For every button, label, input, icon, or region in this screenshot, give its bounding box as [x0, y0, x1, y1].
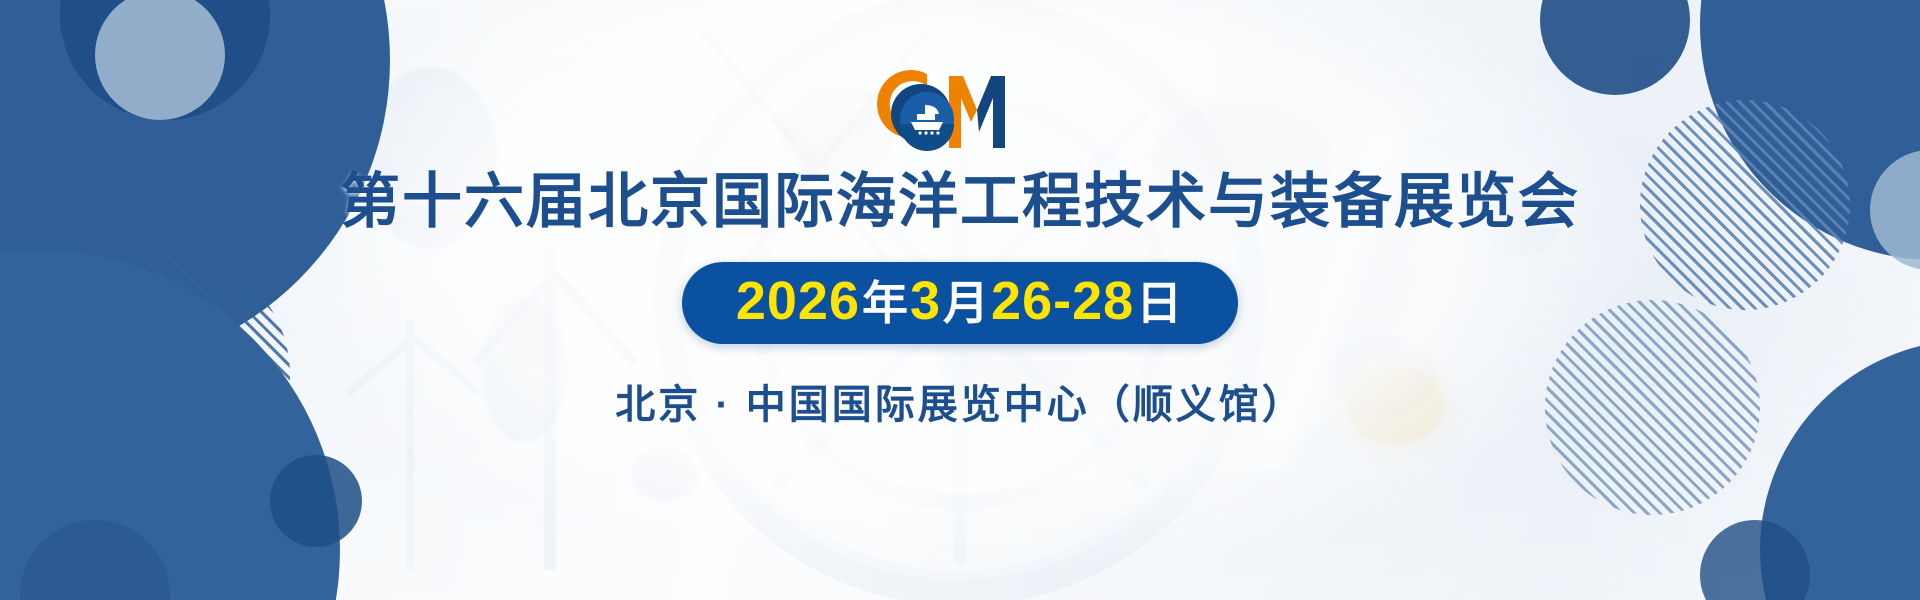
- date-day-unit: 日: [1134, 280, 1184, 326]
- date-month-unit: 月: [941, 280, 991, 326]
- event-banner: 第十六届北京国际海洋工程技术与装备展览会 2026 年 3 月 26-28 日 …: [0, 0, 1920, 600]
- logo-ship-deck: [917, 114, 935, 120]
- logo-letter-m-orange: [949, 76, 977, 148]
- date-month: 3: [910, 274, 941, 328]
- venue-text: 北京 · 中国国际展览中心（顺义馆）: [615, 372, 1305, 430]
- date-days: 26-28: [991, 274, 1134, 328]
- banner-content: 第十六届北京国际海洋工程技术与装备展览会 2026 年 3 月 26-28 日 …: [0, 0, 1920, 600]
- date-year: 2026: [736, 274, 860, 328]
- date-badge: 2026 年 3 月 26-28 日: [682, 262, 1238, 344]
- logo-ship-hull: [911, 122, 943, 130]
- logo-letter-m-navy: [977, 76, 1005, 148]
- com-logo: [865, 62, 1055, 162]
- page-title: 第十六届北京国际海洋工程技术与装备展览会: [340, 172, 1580, 232]
- com-logo-mark: [865, 62, 1055, 162]
- date-year-unit: 年: [860, 280, 910, 326]
